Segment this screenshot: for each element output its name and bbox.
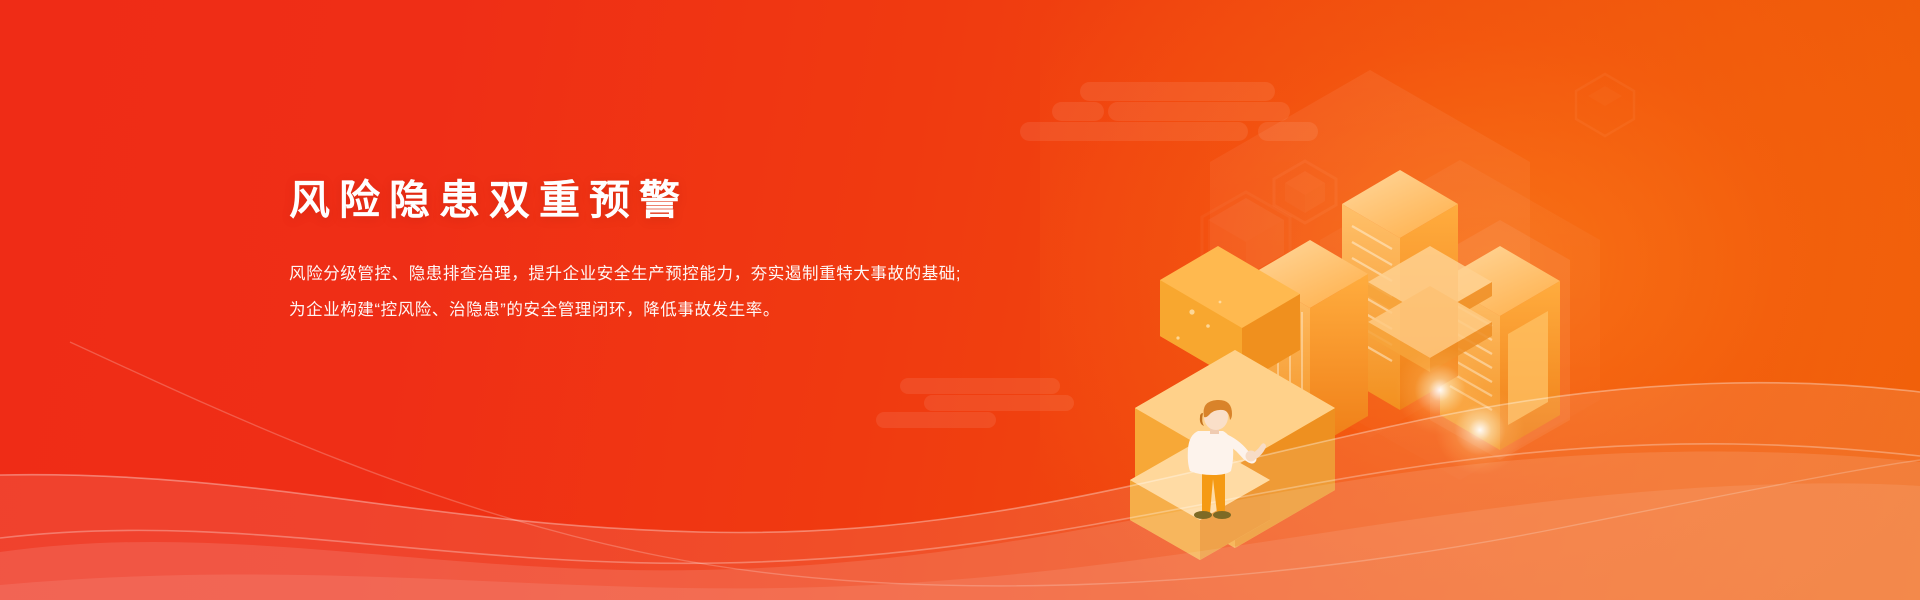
hero-banner: 风险隐患双重预警 风险分级管控、隐患排查治理，提升企业安全生产预控能力，夯实遏制… xyxy=(0,0,1920,600)
page-title: 风险隐患双重预警 xyxy=(289,176,1009,225)
subtitle-line-2: 为企业构建“控风险、治隐患”的安全管理闭环，降低事故发生率。 xyxy=(289,293,1009,328)
subtitle-line-1: 风险分级管控、隐患排查治理，提升企业安全生产预控能力，夯实遏制重特大事故的基础; xyxy=(289,257,1009,292)
banner-subtitle: 风险分级管控、隐患排查治理，提升企业安全生产预控能力，夯实遏制重特大事故的基础;… xyxy=(289,257,1009,328)
bottom-wave-decoration xyxy=(0,320,1920,600)
person-pointing-illustration xyxy=(1172,395,1272,525)
banner-copy: 风险隐患双重预警 风险分级管控、隐患排查治理，提升企业安全生产预控能力，夯实遏制… xyxy=(289,176,1009,328)
